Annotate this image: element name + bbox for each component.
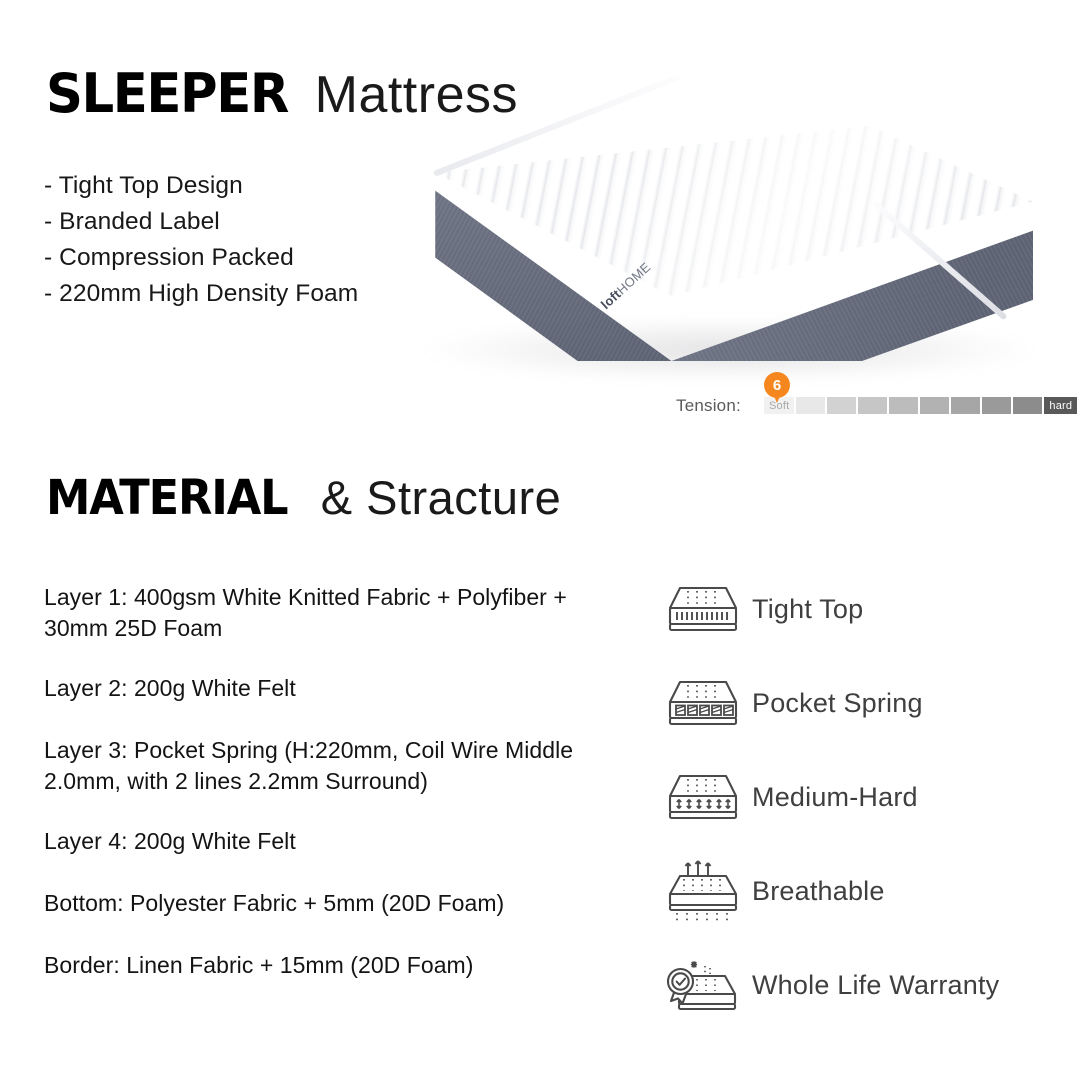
mattress-breathable-icon bbox=[660, 860, 746, 922]
feature-label: Breathable bbox=[752, 876, 885, 907]
list-item: - 220mm High Density Foam bbox=[44, 276, 358, 312]
material-title-light: & Stracture bbox=[321, 470, 562, 525]
layer-item: Layer 3: Pocket Spring (H:220mm, Coil Wi… bbox=[44, 735, 604, 797]
mattress-warranty-badge-icon bbox=[660, 954, 746, 1016]
tension-segment-2[interactable] bbox=[827, 397, 856, 414]
page-title: SLEEPERMattress bbox=[46, 62, 518, 125]
tension-scale: Tension: Soft 6 hard bbox=[676, 392, 1046, 422]
tension-marker-pin: 6 bbox=[764, 372, 790, 406]
feature-tight-top: Tight Top bbox=[660, 562, 1080, 656]
layer-item: Layer 4: 200g White Felt bbox=[44, 826, 604, 857]
mattress-firmness-icon bbox=[660, 770, 746, 824]
page-title-bold: SLEEPER bbox=[46, 62, 288, 125]
mattress-product-image: loftHOME bbox=[385, 118, 1065, 386]
feature-whole-life-warranty: Whole Life Warranty bbox=[660, 938, 1080, 1032]
material-title-bold: MATERIAL bbox=[46, 470, 288, 526]
feature-label: Medium-Hard bbox=[752, 782, 918, 813]
feature-label: Tight Top bbox=[752, 594, 863, 625]
list-item: - Branded Label bbox=[44, 204, 358, 240]
layer-item: Layer 1: 400gsm White Knitted Fabric + P… bbox=[44, 582, 604, 644]
mattress-pocket-spring-icon bbox=[660, 676, 746, 730]
tension-scale-track[interactable]: Soft 6 hard bbox=[764, 397, 1077, 414]
material-section-title: MATERIAL& Stracture bbox=[46, 470, 561, 526]
feature-label: Whole Life Warranty bbox=[752, 970, 999, 1001]
hero-section: SLEEPERMattress - Tight Top Design - Bra… bbox=[0, 0, 1080, 455]
mattress-tight-top-icon bbox=[660, 582, 746, 636]
layer-item: Border: Linen Fabric + 15mm (20D Foam) bbox=[44, 950, 604, 981]
tension-segment-7[interactable] bbox=[982, 397, 1011, 414]
tension-segment-1[interactable] bbox=[796, 397, 825, 414]
layer-item: Layer 2: 200g White Felt bbox=[44, 673, 604, 704]
feature-medium-hard: Medium-Hard bbox=[660, 750, 1080, 844]
tension-value: 6 bbox=[764, 372, 790, 398]
page-title-light: Mattress bbox=[315, 65, 518, 125]
material-layer-list: Layer 1: 400gsm White Knitted Fabric + P… bbox=[44, 582, 604, 1012]
feature-breathable: Breathable bbox=[660, 844, 1080, 938]
tension-segment-3[interactable] bbox=[858, 397, 887, 414]
tension-label: Tension: bbox=[676, 396, 741, 416]
feature-bullet-list: - Tight Top Design - Branded Label - Com… bbox=[44, 168, 358, 312]
layer-item: Bottom: Polyester Fabric + 5mm (20D Foam… bbox=[44, 888, 604, 919]
list-item: - Compression Packed bbox=[44, 240, 358, 276]
tension-segment-6[interactable]: 6 bbox=[951, 397, 980, 414]
feature-pocket-spring: Pocket Spring bbox=[660, 656, 1080, 750]
list-item: - Tight Top Design bbox=[44, 168, 358, 204]
tension-segment-5[interactable] bbox=[920, 397, 949, 414]
feature-icon-list: Tight Top Pocket Spring bbox=[660, 562, 1080, 1032]
feature-label: Pocket Spring bbox=[752, 688, 923, 719]
tension-hard-label: hard bbox=[1044, 397, 1077, 414]
tension-segment-4[interactable] bbox=[889, 397, 918, 414]
tension-segment-8[interactable] bbox=[1013, 397, 1042, 414]
